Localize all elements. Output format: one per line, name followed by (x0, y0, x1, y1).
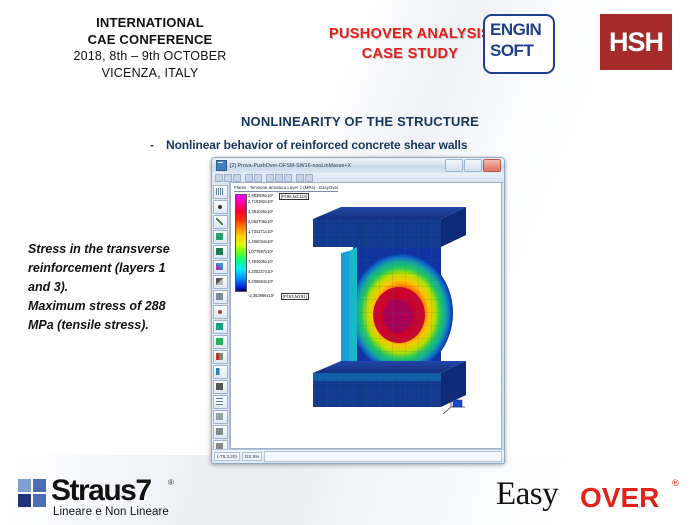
caption-line-4: Maximum stress of 288 (28, 297, 218, 316)
conference-location: VICENZA, ITALY (0, 65, 300, 82)
conference-line-2: CAE CONFERENCE (0, 31, 300, 48)
tool-property-icon[interactable] (213, 410, 228, 424)
section-bullet: - Nonlinear behavior of reinforced concr… (150, 138, 580, 152)
straus7-registered-mark: ® (168, 478, 174, 487)
caption-text: Stress in the transverse reinforcement (… (28, 240, 218, 335)
legend-value: 1,406034x10² (248, 239, 273, 244)
toolbar-icon-open[interactable] (224, 174, 232, 182)
tool-link-icon[interactable] (213, 260, 228, 274)
hsh-logo-text: HSH (609, 27, 663, 58)
straus7-logo-mark (18, 479, 48, 509)
tool-plate-icon[interactable] (213, 230, 228, 244)
toolbar-icon-rotate[interactable] (284, 174, 292, 182)
toolbar-icon-zoom[interactable] (266, 174, 274, 182)
easyover-registered-mark: ® (672, 478, 679, 488)
toolbar-icon-pan[interactable] (275, 174, 283, 182)
application-icon (216, 160, 227, 171)
legend-value: 2,062708x10² (248, 219, 273, 224)
conference-dates: 2018, 8th – 9th OCTOBER (0, 48, 300, 65)
bullet-marker: - (150, 138, 154, 152)
tool-grid-icon[interactable] (213, 185, 228, 199)
legend-value: 4,205237x10¹ (248, 269, 273, 274)
bullet-label: Nonlinear behavior of reinforced concret… (166, 138, 467, 152)
tool-table-icon[interactable] (213, 395, 228, 409)
contour-legend-title: Plates : Tensione armatura Layer 1 (MPa)… (234, 185, 338, 192)
tool-freedom-icon[interactable] (213, 335, 228, 349)
tool-beam-icon[interactable] (213, 215, 228, 229)
legend-value: 7,493605x10¹ (248, 259, 273, 264)
caption-line-5: MPa (tensile stress). (28, 316, 218, 335)
tool-point-icon[interactable] (213, 305, 228, 319)
minimize-button[interactable] (445, 159, 463, 172)
conference-info: INTERNATIONAL CAE CONFERENCE 2018, 8th –… (0, 14, 300, 82)
toolbar-icon-contour[interactable] (296, 174, 304, 182)
caption-line-2: reinforcement (layers 1 (28, 259, 218, 278)
straus7-logo-text: Straus7 (51, 474, 151, 508)
caption-line-1: Stress in the transverse (28, 240, 218, 259)
legend-value: 9,208684x10⁰ (248, 279, 273, 284)
tool-node-icon[interactable] (213, 200, 228, 214)
legend-value: 1,077697x10² (248, 249, 273, 254)
toolbar-icon-undo[interactable] (245, 174, 253, 182)
toolbar-icon-redo[interactable] (254, 174, 262, 182)
enginsoft-logo: ENGIN SOFT (483, 14, 555, 74)
tool-attributes-icon[interactable] (213, 380, 228, 394)
status-scale: DS:5% (242, 452, 262, 461)
toolbar-icon-save[interactable] (233, 174, 241, 182)
easyover-logo-part-2: OVER (580, 482, 659, 514)
easyover-logo: Easy OVER ® (496, 480, 686, 518)
enginsoft-logo-notch-bottom (534, 64, 550, 67)
tool-brick-icon[interactable] (213, 245, 228, 259)
toolbar-icon-results[interactable] (305, 174, 313, 182)
lower-beam (313, 361, 466, 407)
straus7-logo: Straus7 ® Lineare e Non Lineare (18, 477, 218, 519)
enginsoft-logo-line-2: SOFT (490, 42, 533, 59)
tool-view-icon[interactable] (213, 290, 228, 304)
contour-colorbar (235, 194, 247, 292)
maximize-button[interactable] (464, 159, 482, 172)
section-title: NONLINEARITY OF THE STRUCTURE (160, 114, 560, 129)
close-button[interactable] (483, 159, 501, 172)
status-coordinates: (-78,3,20) (214, 452, 240, 461)
tool-load-icon[interactable] (213, 365, 228, 379)
enginsoft-logo-line-1: ENGIN (490, 21, 541, 38)
easyover-logo-part-1: Easy (496, 476, 558, 513)
tool-restraint-icon[interactable] (213, 350, 228, 364)
straus7-tagline: Lineare e Non Lineare (53, 506, 169, 518)
status-message-area (264, 451, 502, 462)
legend-value: 2,391045x10² (248, 209, 273, 214)
tool-solver-icon[interactable] (213, 320, 228, 334)
enginsoft-logo-notch-right (541, 19, 544, 45)
straus7-application-window[interactable]: [2] Prova-PushOver-DFSM-SW16-nonLinMasse… (211, 157, 505, 464)
window-controls[interactable] (445, 159, 502, 172)
conference-line-1: INTERNATIONAL (0, 14, 300, 31)
window-statusbar: (-78,3,20) DS:5% (212, 449, 504, 463)
vertical-toolbar[interactable] (212, 182, 230, 449)
shear-wall-model[interactable] (301, 195, 486, 420)
tool-group-icon[interactable] (213, 425, 228, 439)
hsh-logo: HSH (600, 14, 672, 70)
window-titlebar[interactable]: [2] Prova-PushOver-DFSM-SW16-nonLinMasse… (212, 158, 504, 173)
legend-value: 2,719382x10² (248, 199, 273, 204)
upper-beam (313, 207, 466, 247)
caption-line-3: and 3). (28, 278, 218, 297)
window-title: [2] Prova-PushOver-DFSM-SW16-nonLinMasse… (230, 163, 351, 169)
legend-value: 2,883806x10² (248, 193, 273, 198)
toolbar-icon-new[interactable] (215, 174, 223, 182)
model-viewport[interactable]: Plates : Tensione armatura Layer 1 (MPa)… (230, 182, 502, 449)
legend-value: 1,734271x10² (248, 229, 273, 234)
legend-value: -2,363986x10¹ (248, 293, 274, 298)
tool-measure-icon[interactable] (213, 275, 228, 289)
